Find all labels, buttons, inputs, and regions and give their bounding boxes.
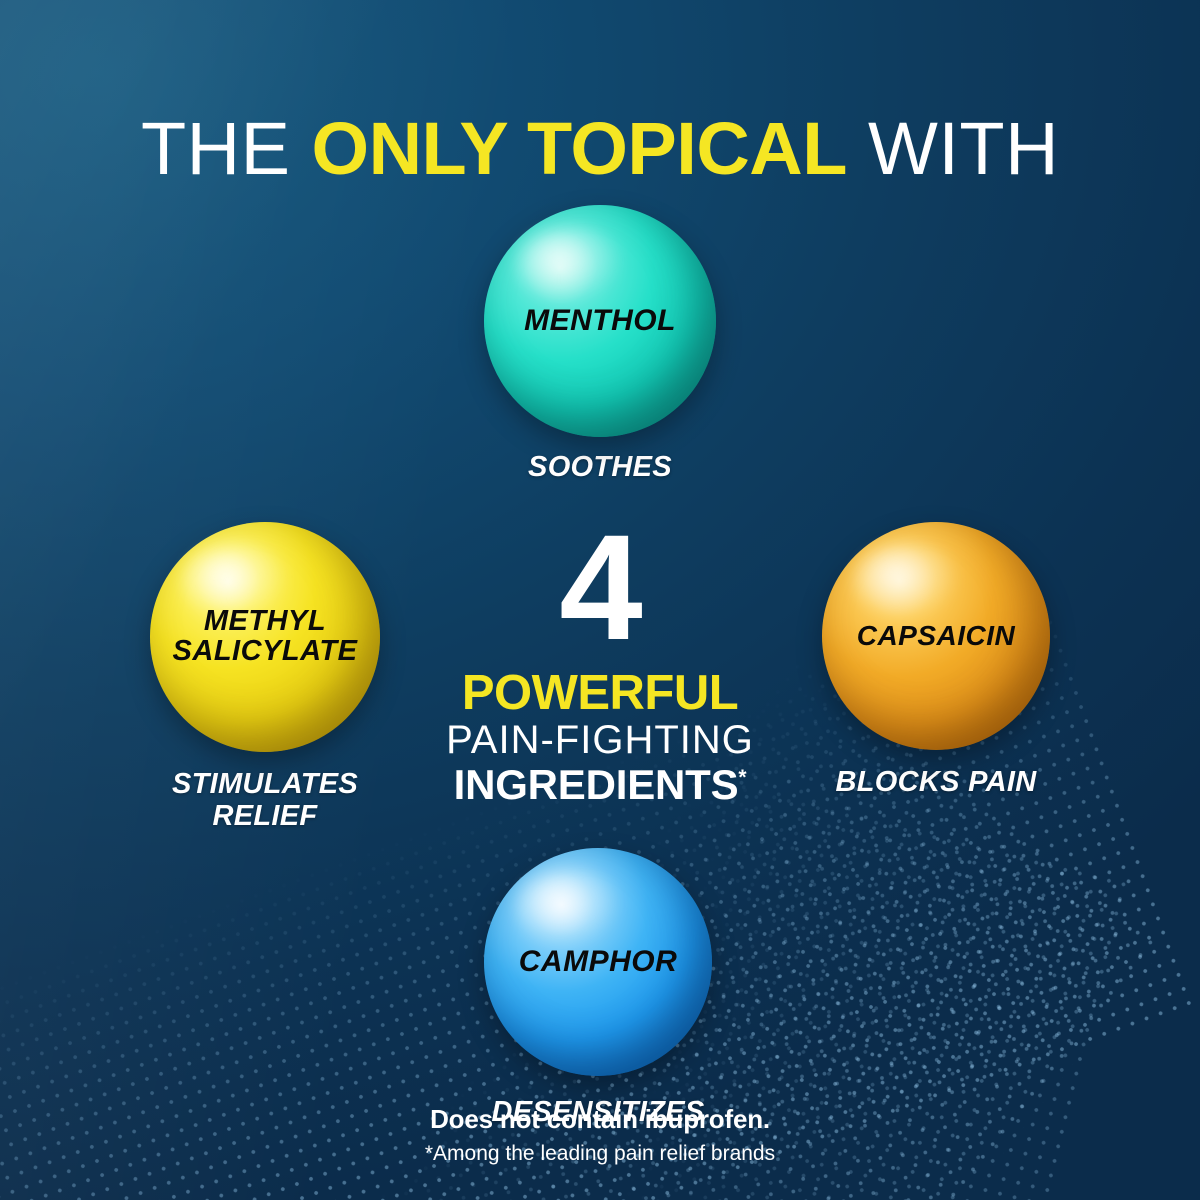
methyl-salicylate-sphere-label: METHYL SALICYLATE <box>173 607 358 666</box>
headline-accent: ONLY TOPICAL <box>312 107 847 190</box>
menthol-benefit-label: SOOTHES <box>484 451 716 483</box>
camphor-sphere: CAMPHOR <box>484 848 712 1076</box>
footer-disclaimer-sub: *Among the leading pain relief brands <box>0 1142 1200 1166</box>
capsaicin-benefit-label: BLOCKS PAIN <box>822 766 1050 798</box>
methyl-salicylate-sphere: METHYL SALICYLATE <box>150 522 380 752</box>
methyl-salicylate-benefit-line-1: STIMULATES <box>150 768 380 800</box>
ingredient-count: 4 <box>420 520 780 655</box>
menthol-sphere: MENTHOL <box>484 205 716 437</box>
footer-disclaimer-main: Does not contain ibuprofen. <box>0 1104 1200 1135</box>
center-claim: 4 POWERFUL PAIN-FIGHTING INGREDIENTS* <box>420 520 780 807</box>
headline: THE ONLY TOPICAL WITH <box>0 112 1200 186</box>
footer: Does not contain ibuprofen. *Among the l… <box>0 1104 1200 1166</box>
headline-part-2: WITH <box>847 107 1059 190</box>
ingredient-methyl-salicylate: METHYL SALICYLATE STIMULATES RELIEF <box>150 522 380 833</box>
camphor-sphere-label: CAMPHOR <box>519 947 678 978</box>
headline-part-1: THE <box>141 107 312 190</box>
product-infographic: THE ONLY TOPICAL WITH MENTHOL SOOTHES ME… <box>0 0 1200 1200</box>
methyl-salicylate-benefit-label: STIMULATES RELIEF <box>150 768 380 833</box>
claim-ingredients-text: INGREDIENTS <box>454 761 739 808</box>
claim-ingredients-asterisk: * <box>738 766 746 789</box>
ingredient-capsaicin: CAPSAICIN BLOCKS PAIN <box>822 522 1050 798</box>
methyl-salicylate-benefit-line-2: RELIEF <box>150 800 380 832</box>
claim-pain-fighting: PAIN-FIGHTING <box>420 718 780 763</box>
methyl-salicylate-name-line-2: SALICYLATE <box>173 637 358 667</box>
capsaicin-sphere: CAPSAICIN <box>822 522 1050 750</box>
claim-ingredients: INGREDIENTS* <box>420 763 780 807</box>
menthol-sphere-label: MENTHOL <box>524 306 676 337</box>
claim-powerful: POWERFUL <box>420 669 780 718</box>
ingredient-camphor: CAMPHOR DESENSITIZES <box>484 848 712 1128</box>
methyl-salicylate-name-line-1: METHYL <box>173 607 358 637</box>
capsaicin-sphere-label: CAPSAICIN <box>857 622 1016 651</box>
ingredient-menthol: MENTHOL SOOTHES <box>484 205 716 483</box>
